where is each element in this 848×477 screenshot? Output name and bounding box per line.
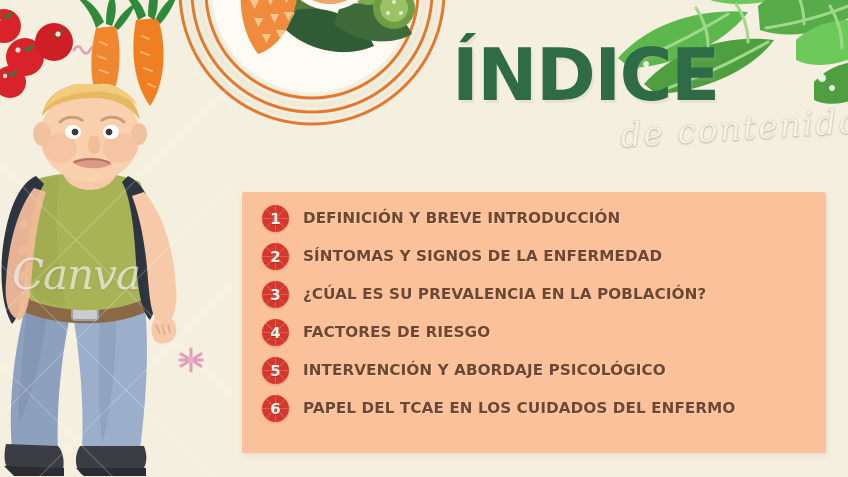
number-badge-3: 3 bbox=[262, 281, 289, 308]
badge-number: 6 bbox=[262, 395, 289, 422]
title-block: ÍNDICE de contenidos bbox=[452, 42, 802, 170]
list-item[interactable]: 5 INTERVENCIÓN Y ABORDAJE PSICOLÓGICO bbox=[262, 354, 818, 392]
number-badge-1: 1 bbox=[262, 205, 289, 232]
index-panel: 1 DEFINICIÓN Y BREVE INTRODUCCIÓN 2 SÍNT… bbox=[242, 192, 826, 453]
item-label: ¿CÚAL ES SU PREVALENCIA EN LA POBLACIÓN? bbox=[303, 278, 706, 305]
item-label: INTERVENCIÓN Y ABORDAJE PSICOLÓGICO bbox=[303, 354, 666, 381]
index-slide: Canva ÍNDICE de contenidos 1 DEF bbox=[0, 0, 848, 477]
number-badge-2: 2 bbox=[262, 243, 289, 270]
pink-flower-icon bbox=[176, 345, 206, 375]
list-item[interactable]: 2 SÍNTOMAS Y SIGNOS DE LA ENFERMEDAD bbox=[262, 240, 818, 278]
badge-number: 3 bbox=[262, 281, 289, 308]
item-label: DEFINICIÓN Y BREVE INTRODUCCIÓN bbox=[303, 202, 620, 229]
item-label: PAPEL DEL TCAE EN LOS CUIDADOS DEL ENFER… bbox=[303, 392, 735, 419]
badge-number: 4 bbox=[262, 319, 289, 346]
index-list: 1 DEFINICIÓN Y BREVE INTRODUCCIÓN 2 SÍNT… bbox=[262, 202, 818, 430]
list-item[interactable]: 6 PAPEL DEL TCAE EN LOS CUIDADOS DEL ENF… bbox=[262, 392, 818, 430]
badge-number: 2 bbox=[262, 243, 289, 270]
number-badge-6: 6 bbox=[262, 395, 289, 422]
list-item[interactable]: 4 FACTORES DE RIESGO bbox=[262, 316, 818, 354]
badge-number: 5 bbox=[262, 357, 289, 384]
number-badge-4: 4 bbox=[262, 319, 289, 346]
number-badge-5: 5 bbox=[262, 357, 289, 384]
item-label: FACTORES DE RIESGO bbox=[303, 316, 490, 343]
list-item[interactable]: 3 ¿CÚAL ES SU PREVALENCIA EN LA POBLACIÓ… bbox=[262, 278, 818, 316]
item-label: SÍNTOMAS Y SIGNOS DE LA ENFERMEDAD bbox=[303, 240, 662, 267]
watermark-grid bbox=[0, 84, 232, 477]
list-item[interactable]: 1 DEFINICIÓN Y BREVE INTRODUCCIÓN bbox=[262, 202, 818, 240]
page-title: ÍNDICE bbox=[452, 42, 802, 108]
badge-number: 1 bbox=[262, 205, 289, 232]
